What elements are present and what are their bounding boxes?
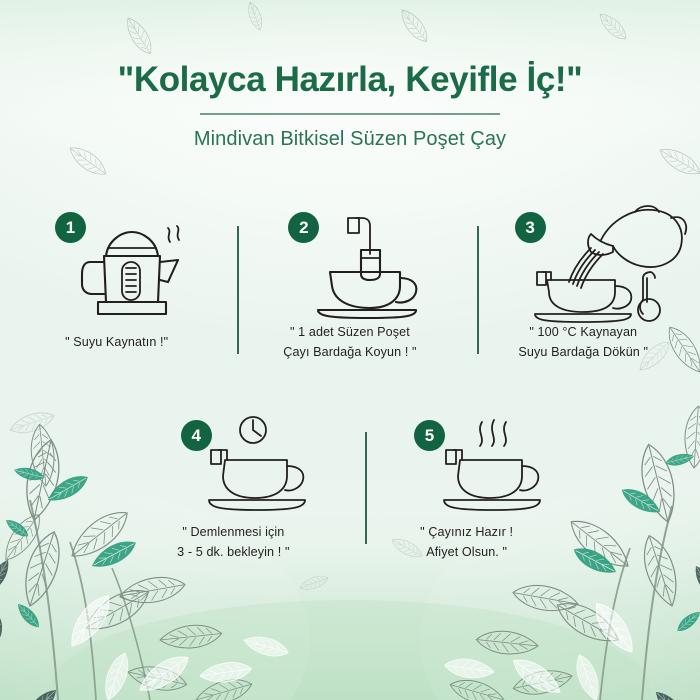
steps-container: 1 (0, 196, 700, 570)
cup-with-clock-icon (201, 414, 319, 518)
step-1: 1 (0, 196, 233, 386)
pouring-kettle-thermometer-icon (529, 204, 689, 324)
steps-row-2: 4 " Demlenmesi için 3 - 5 dk. be (0, 410, 700, 570)
step-4: 4 " Demlenmesi için 3 - 5 dk. be (117, 410, 350, 570)
page-title: "Kolayca Hazırla, Keyifle İç!" (0, 0, 700, 99)
teabag-into-cup-icon (308, 210, 426, 320)
infographic-page: "Kolayca Hazırla, Keyifle İç!" Mindivan … (0, 0, 700, 700)
page-subtitle: Mindivan Bitkisel Süzen Poşet Çay (0, 115, 700, 151)
column-divider-3 (365, 432, 367, 544)
header: "Kolayca Hazırla, Keyifle İç!" Mindivan … (0, 0, 700, 151)
step-caption: " 100 °C Kaynayan Suyu Bardağa Dökün " (467, 322, 700, 363)
steps-row-1: 1 (0, 196, 700, 386)
column-divider-2 (477, 226, 479, 354)
column-divider-1 (237, 226, 239, 354)
title-underline (200, 113, 500, 115)
step-caption: " Demlenmesi için 3 - 5 dk. bekleyin ! " (117, 522, 350, 563)
step-2: 2 " 1 adet Süzen Poşet (233, 196, 466, 386)
step-3: 3 (467, 196, 700, 386)
step-caption: " Çayınız Hazır ! Afiyet Olsun. " (350, 522, 583, 563)
electric-kettle-icon (78, 222, 186, 326)
step-caption: " Suyu Kaynatın !" (0, 332, 233, 352)
steaming-cup-icon (436, 416, 554, 520)
step-5: 5 " Çayınız Hazır ! A (350, 410, 583, 570)
step-caption: " 1 adet Süzen Poşet Çayı Bardağa Koyun … (233, 322, 466, 363)
